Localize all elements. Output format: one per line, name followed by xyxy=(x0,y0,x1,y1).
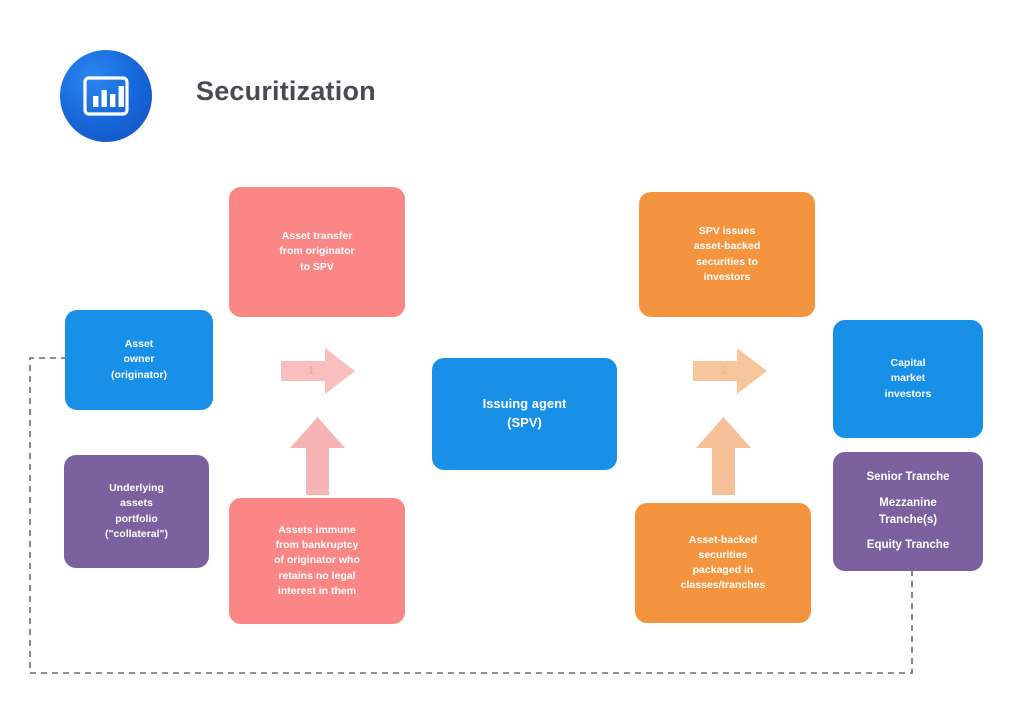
node-line: (SPV) xyxy=(442,414,607,433)
node-line: securities xyxy=(645,548,801,563)
tranche-senior: Senior Tranche xyxy=(843,469,973,486)
node-line: interest in them xyxy=(239,584,395,599)
node-capital-market-investors[interactable]: Capital market investors xyxy=(833,320,983,438)
node-line: from bankruptcy xyxy=(239,538,395,553)
node-asset-owner[interactable]: Asset owner (originator) xyxy=(65,310,213,410)
arrow-label-2: 2 xyxy=(721,366,727,377)
node-line: Asset-backed xyxy=(645,533,801,548)
node-tranches[interactable]: Senior Tranche Mezzanine Tranche(s) Equi… xyxy=(833,452,983,571)
node-line: retains no legal xyxy=(239,569,395,584)
node-line: securities to xyxy=(649,255,805,270)
node-line: classes/tranches xyxy=(645,578,801,593)
node-assets-immune[interactable]: Assets immune from bankruptcy of origina… xyxy=(229,498,405,624)
arrow-collateral-up xyxy=(290,417,345,495)
node-line: ("collateral") xyxy=(74,527,199,542)
arrow-spv-to-investors xyxy=(693,348,767,394)
node-line: Asset transfer xyxy=(239,229,395,244)
node-line: assets xyxy=(74,496,199,511)
node-line: Assets immune xyxy=(239,523,395,538)
node-line: Underlying xyxy=(74,481,199,496)
node-line: packaged in xyxy=(645,563,801,578)
securitization-diagram: Securitization Asset transfer from origi… xyxy=(0,0,1024,715)
node-abs-packaged[interactable]: Asset-backed securities packaged in clas… xyxy=(635,503,811,623)
node-spv-issues[interactable]: SPV issues asset-backed securities to in… xyxy=(639,192,815,317)
tranche-mezzanine: Tranche(s) xyxy=(843,512,973,529)
node-line: market xyxy=(843,371,973,386)
node-line: Asset xyxy=(75,337,203,352)
node-line: from originator xyxy=(239,244,395,259)
node-line: investors xyxy=(843,387,973,402)
node-line: asset-backed xyxy=(649,239,805,254)
tranche-mezzanine: Mezzanine xyxy=(843,495,973,512)
tranche-spacer xyxy=(843,486,973,495)
tranche-equity: Equity Tranche xyxy=(843,537,973,554)
page-title: Securitization xyxy=(196,76,376,107)
arrow-tranches-up xyxy=(696,417,751,495)
node-line: portfolio xyxy=(74,512,199,527)
node-asset-transfer[interactable]: Asset transfer from originator to SPV xyxy=(229,187,405,317)
node-line: to SPV xyxy=(239,260,395,275)
tranche-spacer xyxy=(843,528,973,537)
node-line: Issuing agent xyxy=(442,395,607,414)
node-issuing-agent[interactable]: Issuing agent (SPV) xyxy=(432,358,617,470)
node-line: of originator who xyxy=(239,553,395,568)
arrow-originator-to-spv xyxy=(281,348,355,394)
arrow-label-1: 1 xyxy=(308,366,314,377)
bar-chart-icon xyxy=(60,50,152,142)
node-line: owner xyxy=(75,352,203,367)
node-line: investors xyxy=(649,270,805,285)
node-underlying-assets[interactable]: Underlying assets portfolio ("collateral… xyxy=(64,455,209,568)
node-line: (originator) xyxy=(75,368,203,383)
node-line: Capital xyxy=(843,356,973,371)
node-line: SPV issues xyxy=(649,224,805,239)
